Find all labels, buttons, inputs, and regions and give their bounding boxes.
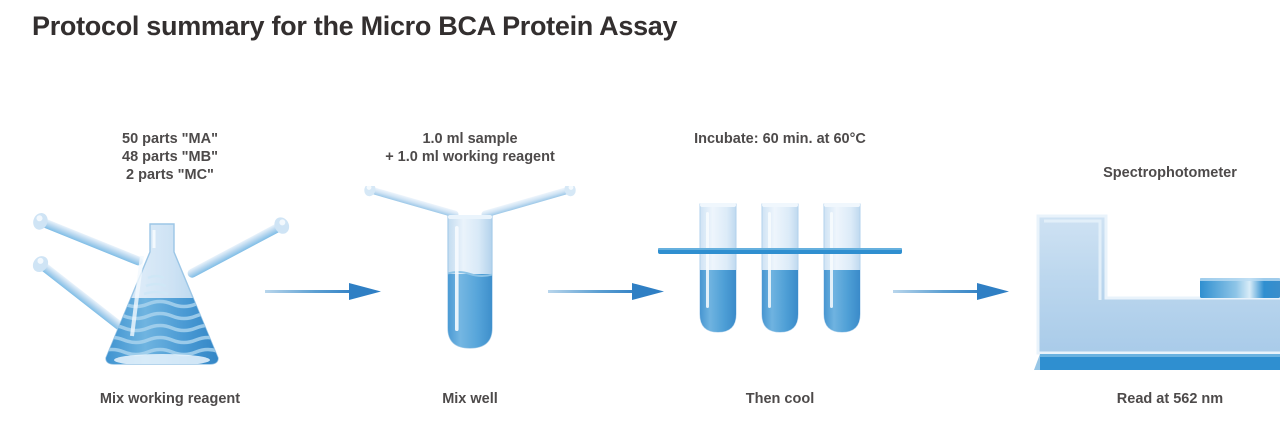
step-1-top-line-3: 2 parts "MC" xyxy=(20,166,320,184)
spectrophotometer-illustration xyxy=(1020,188,1280,383)
step-2-top-caption: 1.0 ml sample + 1.0 ml working reagent xyxy=(330,130,610,166)
step-2-bottom-caption: Mix well xyxy=(330,391,610,407)
pipette-icon xyxy=(363,186,460,221)
flow-arrow-3 xyxy=(893,280,1013,304)
test-tube-icon xyxy=(446,215,494,354)
step-2-top-line-1: 1.0 ml sample xyxy=(330,130,610,148)
step-3-top-caption: Incubate: 60 min. at 60°C xyxy=(640,130,920,148)
test-tube-icon xyxy=(822,203,862,340)
step-1-bottom-caption: Mix working reagent xyxy=(20,391,320,407)
step-4-bottom-caption: Read at 562 nm xyxy=(1020,391,1280,407)
step-1-top-line-2: 48 parts "MB" xyxy=(20,148,320,166)
tube-rack-illustration xyxy=(640,186,920,381)
erlenmeyer-flask-icon xyxy=(100,224,220,366)
step-3-top-line-1: Incubate: 60 min. at 60°C xyxy=(640,130,920,148)
cuvette-icon xyxy=(1200,278,1280,298)
step-1-top-caption: 50 parts "MA" 48 parts "MB" 2 parts "MC" xyxy=(20,130,320,184)
protocol-flow-diagram: 50 parts "MA" 48 parts "MB" 2 parts "MC" xyxy=(0,0,1280,426)
pipette-icon xyxy=(480,186,577,221)
pipette-icon xyxy=(184,215,292,283)
tube-rack-bar-icon xyxy=(658,248,902,254)
step-2-top-line-2: + 1.0 ml working reagent xyxy=(330,148,610,166)
step-4-top-caption: Spectrophotometer xyxy=(1020,164,1280,182)
test-tube-icon xyxy=(760,203,800,340)
spectrophotometer-base-icon xyxy=(1034,354,1280,370)
test-tube-icon xyxy=(698,203,738,340)
step-3-bottom-caption: Then cool xyxy=(640,391,920,407)
step-mix-working-reagent: 50 parts "MA" 48 parts "MB" 2 parts "MC" xyxy=(20,130,320,415)
step-1-top-line-1: 50 parts "MA" xyxy=(20,130,320,148)
spectrophotometer-label: Spectrophotometer xyxy=(1020,164,1280,182)
pipette-icon xyxy=(30,253,130,336)
step-read-absorbance: Spectrophotometer xyxy=(1020,130,1280,415)
step-mix-well: 1.0 ml sample + 1.0 ml working reagent xyxy=(330,130,610,415)
step-then-cool: Incubate: 60 min. at 60°C xyxy=(640,130,920,415)
